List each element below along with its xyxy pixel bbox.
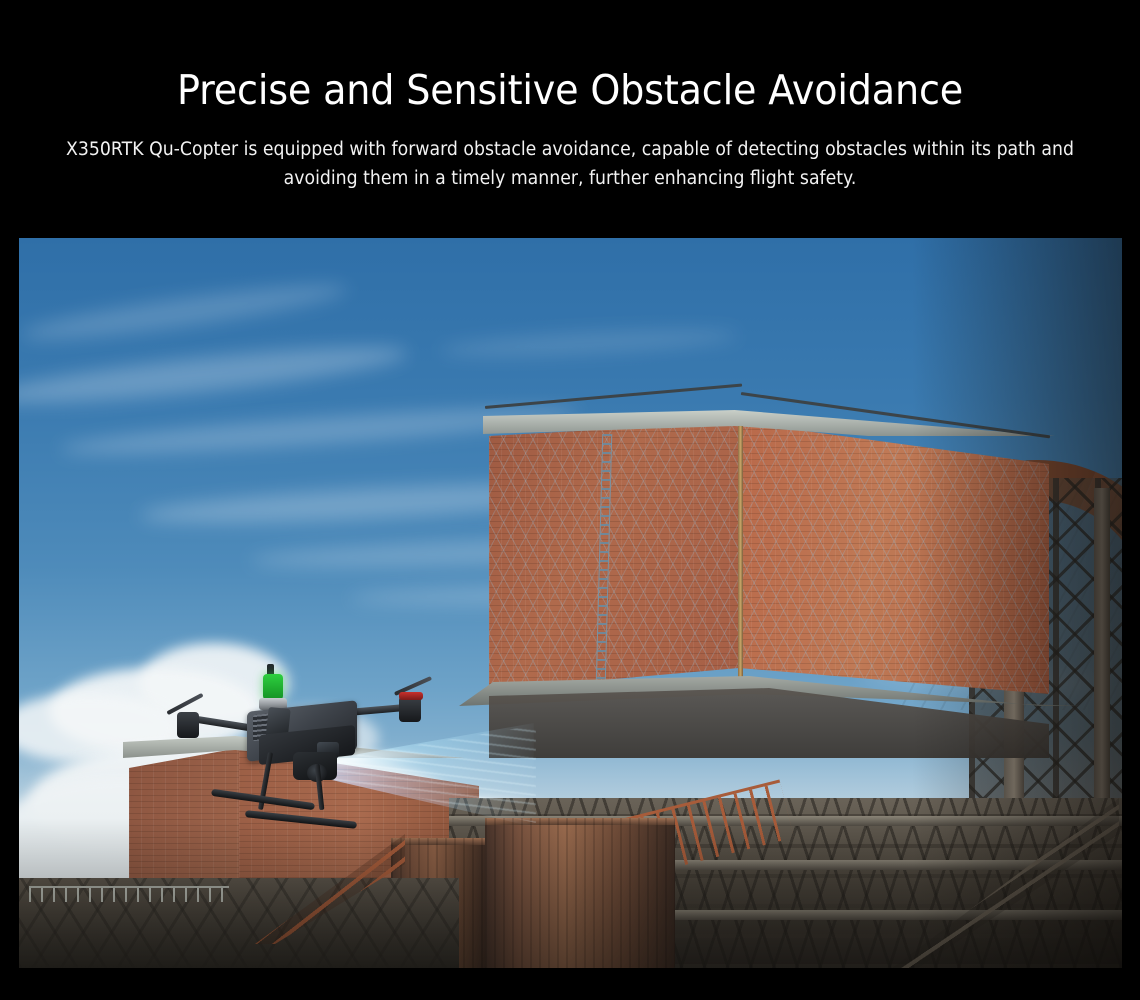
photo-scene (19, 238, 1122, 968)
product-feature-page: Precise and Sensitive Obstacle Avoidance… (0, 0, 1140, 1000)
heading-block: Precise and Sensitive Obstacle Avoidance… (0, 0, 1140, 193)
wire-mesh-overlay (489, 422, 739, 690)
drone-quadcopter (167, 668, 427, 838)
ground-railing (29, 886, 229, 902)
feature-photo (19, 238, 1122, 968)
storage-tank (485, 818, 675, 968)
landing-skid (245, 810, 357, 829)
motor-left (177, 712, 199, 738)
page-subtitle: X350RTK Qu-Copter is equipped with forwa… (37, 111, 1103, 193)
main-brick-tower (489, 388, 1049, 718)
motor-status-light-red (399, 692, 423, 700)
drain-pipe (738, 426, 743, 694)
tower-face-right (739, 422, 1049, 694)
wire-mesh-overlay (739, 422, 1049, 694)
status-light-green (263, 674, 283, 700)
tower-face-left (489, 422, 739, 690)
page-title: Precise and Sensitive Obstacle Avoidance (40, 0, 1100, 111)
tank-rust-streaks (485, 818, 675, 968)
roof-railing (485, 384, 742, 409)
